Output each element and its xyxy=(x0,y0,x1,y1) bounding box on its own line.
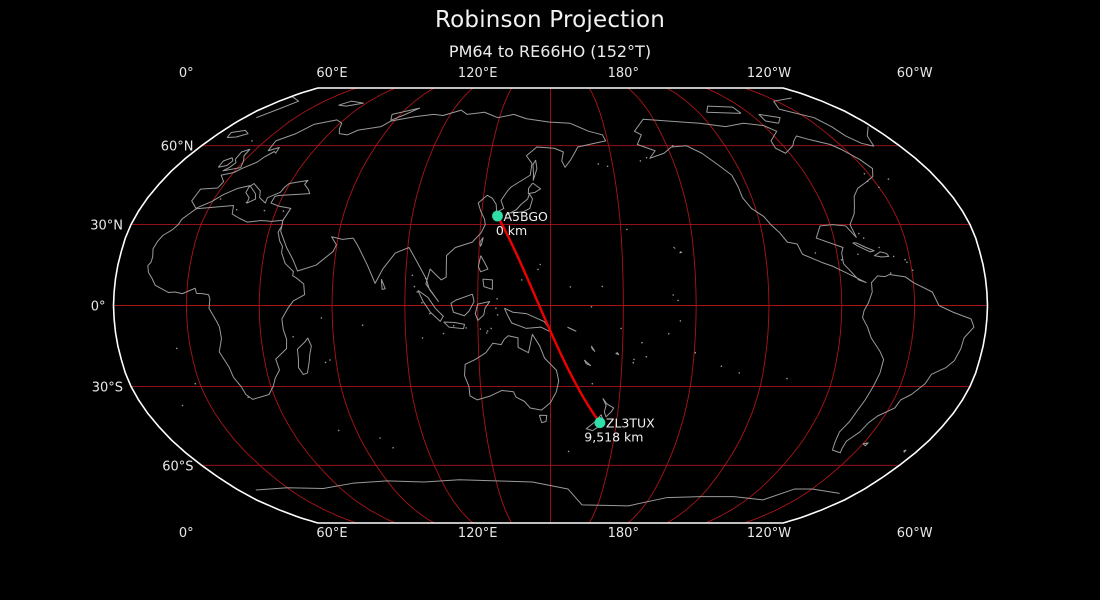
island-speck xyxy=(646,157,648,159)
lon-label-top-0: 0° xyxy=(179,66,194,81)
island-speck xyxy=(486,332,488,334)
island-speck xyxy=(598,163,600,165)
lon-label-top-4: 120°W xyxy=(747,66,791,81)
island-speck xyxy=(668,333,670,335)
island-speck xyxy=(680,320,682,322)
island-speck xyxy=(607,166,609,168)
coastline xyxy=(603,398,614,417)
island-speck xyxy=(620,328,622,330)
island-speck xyxy=(841,259,843,261)
island-speck xyxy=(641,342,643,344)
island-speck xyxy=(325,362,327,364)
island-speck xyxy=(626,229,628,231)
coastline xyxy=(297,338,311,375)
island-speck xyxy=(414,286,416,288)
lat-label-1: 30°N xyxy=(90,219,123,234)
coastline xyxy=(874,252,889,257)
island-speck xyxy=(890,272,892,274)
island-speck xyxy=(490,328,492,330)
island-speck xyxy=(867,180,869,182)
island-speck xyxy=(537,269,539,271)
island-speck xyxy=(591,306,593,308)
lon-label-bottom-3: 180° xyxy=(608,526,639,541)
island-speck xyxy=(429,313,431,315)
island-speck xyxy=(379,437,381,439)
island-speck xyxy=(443,333,445,335)
lon-label-bottom-2: 120°E xyxy=(458,526,498,541)
coastline xyxy=(616,353,619,355)
island-speck xyxy=(677,300,679,302)
lat-label-2: 0° xyxy=(91,300,106,315)
lon-label-bottom-4: 120°W xyxy=(747,526,791,541)
island-speck xyxy=(539,264,541,266)
island-speck xyxy=(283,210,285,212)
island-speck xyxy=(425,278,427,280)
island-speck xyxy=(738,372,740,374)
coastline xyxy=(381,279,385,289)
island-speck xyxy=(815,252,817,254)
island-speck xyxy=(568,451,570,453)
graticule-layer xyxy=(114,88,988,523)
island-speck xyxy=(857,254,859,256)
island-speck xyxy=(721,365,723,367)
island-speck xyxy=(220,198,222,200)
lon-label-bottom-0: 0° xyxy=(179,526,194,541)
coastline xyxy=(533,160,537,180)
island-speck xyxy=(878,187,880,189)
station-callsign-destination: ZL3TUX xyxy=(606,416,655,431)
coastline xyxy=(863,443,868,446)
island-speck xyxy=(236,209,238,211)
coastline xyxy=(584,360,590,366)
island-speck xyxy=(421,302,423,304)
island-speck xyxy=(487,330,489,332)
coastline xyxy=(591,346,594,351)
coastline xyxy=(674,247,675,248)
axis-label-layer: 0°0°60°E60°E120°E120°E180°180°120°W120°W… xyxy=(90,66,933,541)
coastline xyxy=(339,101,364,106)
island-speck xyxy=(672,145,674,147)
island-speck xyxy=(292,336,294,338)
island-speck xyxy=(878,247,880,249)
island-speck xyxy=(338,430,340,432)
coastline xyxy=(680,252,682,253)
island-speck xyxy=(176,348,178,350)
station-marker-destination[interactable] xyxy=(595,417,606,428)
coastline xyxy=(528,183,540,194)
marker-layer: A5BGO0 kmZL3TUX9,518 km xyxy=(492,209,655,445)
coastline xyxy=(256,480,840,506)
coastline xyxy=(451,294,474,316)
island-speck xyxy=(422,337,424,339)
coastline xyxy=(707,106,741,113)
island-speck xyxy=(251,140,253,142)
island-speck xyxy=(496,298,498,300)
coastline xyxy=(148,205,305,399)
island-speck xyxy=(321,317,323,319)
lat-label-3: 30°S xyxy=(92,380,123,395)
lon-label-bottom-5: 60°W xyxy=(897,526,933,541)
coastline xyxy=(759,114,780,123)
island-speck xyxy=(633,362,635,364)
coastline xyxy=(218,158,233,168)
lon-label-top-5: 60°W xyxy=(897,66,933,81)
island-speck xyxy=(362,324,364,326)
island-speck xyxy=(912,269,914,271)
island-speck xyxy=(592,383,594,385)
island-speck xyxy=(465,327,467,329)
island-speck xyxy=(786,378,788,380)
station-marker-origin[interactable] xyxy=(492,211,503,222)
island-speck xyxy=(906,262,908,264)
island-speck xyxy=(570,286,572,288)
coastline-layer xyxy=(148,96,974,505)
island-speck xyxy=(521,279,523,281)
island-speck xyxy=(863,237,865,239)
island-speck xyxy=(495,307,497,309)
station-callsign-origin: A5BGO xyxy=(504,209,549,224)
island-speck xyxy=(640,160,642,162)
island-speck xyxy=(497,314,499,316)
coastline xyxy=(567,327,575,331)
island-speck xyxy=(329,359,331,361)
island-speck xyxy=(195,383,197,385)
map-figure: Robinson Projection PM64 to RE66HO (152°… xyxy=(0,0,1100,600)
coastline xyxy=(853,243,874,252)
island-speck xyxy=(864,173,866,175)
island-speck xyxy=(672,294,674,296)
coastline xyxy=(634,119,872,282)
island-speck xyxy=(893,256,895,258)
island-speck xyxy=(264,210,266,212)
coastline xyxy=(904,450,906,452)
island-speck xyxy=(888,178,890,180)
lon-label-bottom-1: 60°E xyxy=(316,526,347,541)
lon-label-top-1: 60°E xyxy=(316,66,347,81)
coastline xyxy=(480,237,483,246)
coastline xyxy=(478,256,488,272)
coastline xyxy=(227,130,248,137)
lat-label-4: 60°S xyxy=(162,459,193,474)
island-speck xyxy=(246,202,248,204)
coastline xyxy=(832,274,973,452)
island-speck xyxy=(412,275,414,277)
island-speck xyxy=(904,259,906,261)
island-speck xyxy=(695,352,697,354)
lat-label-0: 60°N xyxy=(161,140,194,155)
coastline xyxy=(483,279,493,289)
station-distance-destination: 9,518 km xyxy=(584,430,643,445)
island-speck xyxy=(633,359,635,361)
island-speck xyxy=(182,405,184,407)
island-speck xyxy=(247,396,249,398)
island-speck xyxy=(480,328,482,330)
island-speck xyxy=(858,233,860,235)
coastline xyxy=(192,110,606,301)
robinson-map: A5BGO0 kmZL3TUX9,518 km 0°0°60°E60°E120°… xyxy=(0,0,1100,600)
station-distance-origin: 0 km xyxy=(496,223,527,238)
island-speck xyxy=(392,447,394,449)
island-speck xyxy=(646,356,648,358)
lon-label-top-2: 120°E xyxy=(458,66,498,81)
lon-label-top-3: 180° xyxy=(608,66,639,81)
coastline xyxy=(539,415,546,422)
island-speck xyxy=(416,291,418,293)
island-speck xyxy=(602,286,604,288)
island-speck xyxy=(453,325,455,327)
